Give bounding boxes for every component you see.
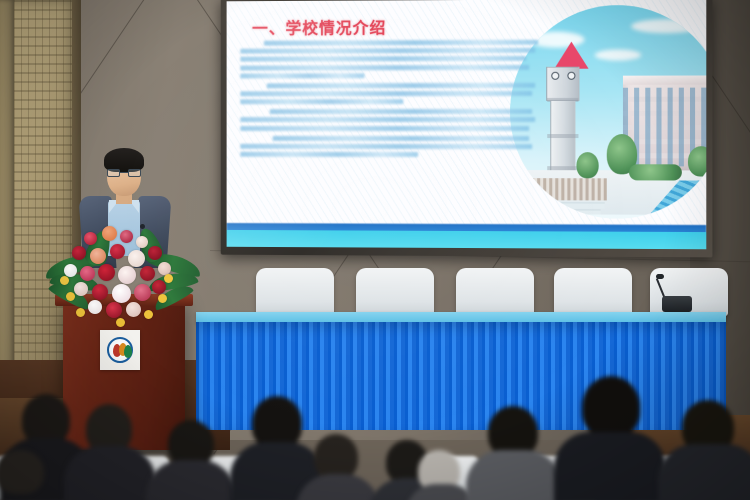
- shoulders: [658, 444, 750, 500]
- flower: [84, 232, 97, 245]
- screen-bezel: 一、学校情况介绍: [221, 0, 713, 257]
- clock-face-icon: [551, 72, 559, 80]
- audience-foreground: [0, 368, 750, 500]
- audience-member: [70, 402, 148, 500]
- stage-chairs: [246, 268, 706, 316]
- flower: [134, 284, 151, 301]
- flower-yellow: [66, 292, 75, 301]
- flower-yellow: [158, 294, 167, 303]
- school-emblem: [100, 330, 140, 370]
- head: [582, 376, 640, 438]
- wall-door-edge: [0, 0, 14, 400]
- flower: [148, 246, 162, 260]
- flower: [118, 266, 136, 284]
- flower: [120, 230, 133, 243]
- plaza-step: [534, 202, 605, 208]
- clock-tower-roof: [554, 42, 588, 69]
- chair[interactable]: [256, 268, 334, 316]
- shoulders: [296, 474, 380, 500]
- paragraph: [240, 40, 538, 78]
- shoulders: [64, 446, 156, 500]
- slide-footer-band: [227, 230, 707, 249]
- presentation-screen[interactable]: 一、学校情况介绍: [227, 0, 707, 249]
- audience-member: [662, 396, 750, 500]
- flower: [98, 264, 115, 281]
- eyeglasses-icon: [107, 169, 141, 177]
- clock-tower-belfry: [546, 67, 579, 101]
- audience-member-gray-hair: [408, 438, 472, 500]
- flower-yellow: [164, 274, 173, 283]
- flower: [128, 250, 145, 267]
- tree-icon: [576, 152, 598, 178]
- flower: [88, 300, 102, 314]
- hedge: [629, 164, 682, 180]
- slide-body-text: [240, 40, 538, 162]
- flower: [102, 226, 117, 241]
- flower: [110, 244, 125, 259]
- flower: [74, 282, 88, 296]
- slide-title: 一、学校情况介绍: [252, 14, 386, 38]
- cloud-icon: [595, 49, 642, 60]
- flower-yellow: [76, 308, 85, 317]
- head: [0, 450, 44, 494]
- emblem-ring-icon: [107, 337, 133, 363]
- audience-member: [150, 414, 232, 500]
- flower: [92, 284, 108, 300]
- paragraph: [240, 135, 538, 157]
- paragraph: [240, 109, 538, 130]
- audience-member: [470, 404, 556, 500]
- chair[interactable]: [554, 268, 632, 316]
- flower-yellow: [144, 310, 153, 319]
- floral-arrangement: [48, 222, 198, 332]
- conference-photo-scene: 一、学校情况介绍: [0, 0, 750, 500]
- audience-member: [300, 426, 374, 500]
- flower: [64, 264, 77, 277]
- chair[interactable]: [456, 268, 534, 316]
- flower-yellow: [116, 318, 125, 327]
- flower-yellow: [60, 276, 69, 285]
- flower: [106, 302, 122, 318]
- building-roofline: [623, 75, 706, 84]
- flower: [136, 236, 148, 248]
- tree-icon: [688, 146, 706, 176]
- plaza-step: [540, 209, 601, 214]
- flower: [80, 266, 95, 281]
- audience-member: [0, 440, 70, 500]
- flower: [140, 266, 155, 281]
- flower: [152, 280, 166, 294]
- flower: [90, 248, 106, 264]
- shoulders: [554, 432, 666, 500]
- chair[interactable]: [356, 268, 434, 316]
- colonnade: [528, 178, 607, 200]
- shoulders: [466, 450, 562, 500]
- shoulders: [146, 460, 236, 500]
- campus-photo: [510, 5, 706, 219]
- flower: [112, 284, 131, 303]
- flower: [126, 302, 141, 317]
- flower: [72, 246, 86, 260]
- clock-face-icon: [567, 72, 575, 80]
- conference-microphone[interactable]: [662, 296, 692, 312]
- tower-band: [547, 134, 578, 138]
- audience-member: [560, 382, 660, 500]
- paragraph: [240, 83, 538, 105]
